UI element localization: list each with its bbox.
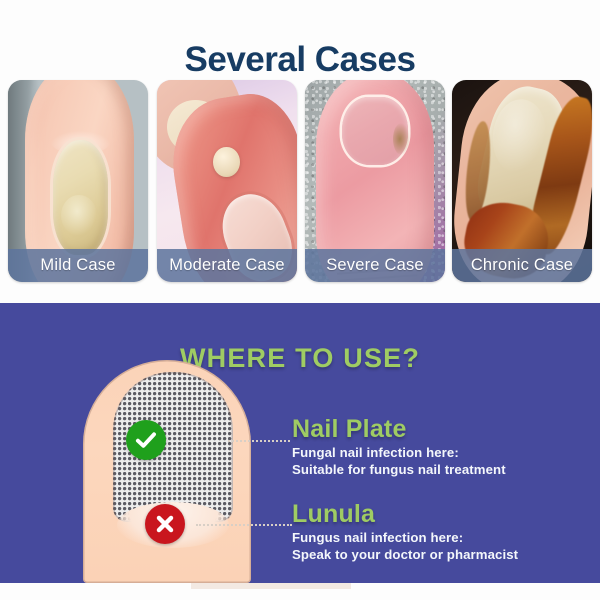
case-card-label: Severe Case xyxy=(305,249,445,282)
infographic-root: Several Cases Mild Case xyxy=(0,0,600,600)
case-card-grid: Mild Case Moderate Case xyxy=(0,80,600,282)
several-cases-section: Several Cases Mild Case xyxy=(0,0,600,303)
case-card-label: Mild Case xyxy=(8,249,148,282)
case-card-label: Moderate Case xyxy=(157,249,297,282)
check-circle-icon[interactable] xyxy=(126,420,166,460)
page-title: Several Cases xyxy=(0,41,600,80)
infected-nail-shape xyxy=(342,97,408,165)
callout-title: Lunula xyxy=(292,501,518,527)
blister-shape xyxy=(213,147,240,177)
x-circle-icon[interactable] xyxy=(145,504,185,544)
case-card-severe[interactable]: Severe Case xyxy=(305,80,445,282)
infected-nail-shape xyxy=(53,140,108,254)
callout-line-1: Fungal nail infection here: xyxy=(292,445,506,462)
callout-line-1: Fungus nail infection here: xyxy=(292,530,518,547)
callout-nail-plate: Nail Plate Fungal nail infection here: S… xyxy=(292,416,506,479)
callout-line-2: Suitable for fungus nail treatment xyxy=(292,462,506,479)
callout-lunula: Lunula Fungus nail infection here: Speak… xyxy=(292,501,518,564)
where-to-use-title: WHERE TO USE? xyxy=(0,343,600,374)
leader-line-lunula xyxy=(196,524,292,526)
bottom-strip xyxy=(0,583,600,600)
where-to-use-section: WHERE TO USE? Nail Plate Fungal nail inf… xyxy=(0,303,600,583)
finger-stub xyxy=(191,583,351,589)
callout-line-2: Speak to your doctor or pharmacist xyxy=(292,547,518,564)
case-card-moderate[interactable]: Moderate Case xyxy=(157,80,297,282)
leader-line-nail-plate xyxy=(228,440,290,442)
case-card-chronic[interactable]: Chronic Case xyxy=(452,80,592,282)
case-card-label: Chronic Case xyxy=(452,249,592,282)
nail-diagram xyxy=(83,360,251,583)
callout-title: Nail Plate xyxy=(292,416,506,442)
case-card-mild[interactable]: Mild Case xyxy=(8,80,148,282)
